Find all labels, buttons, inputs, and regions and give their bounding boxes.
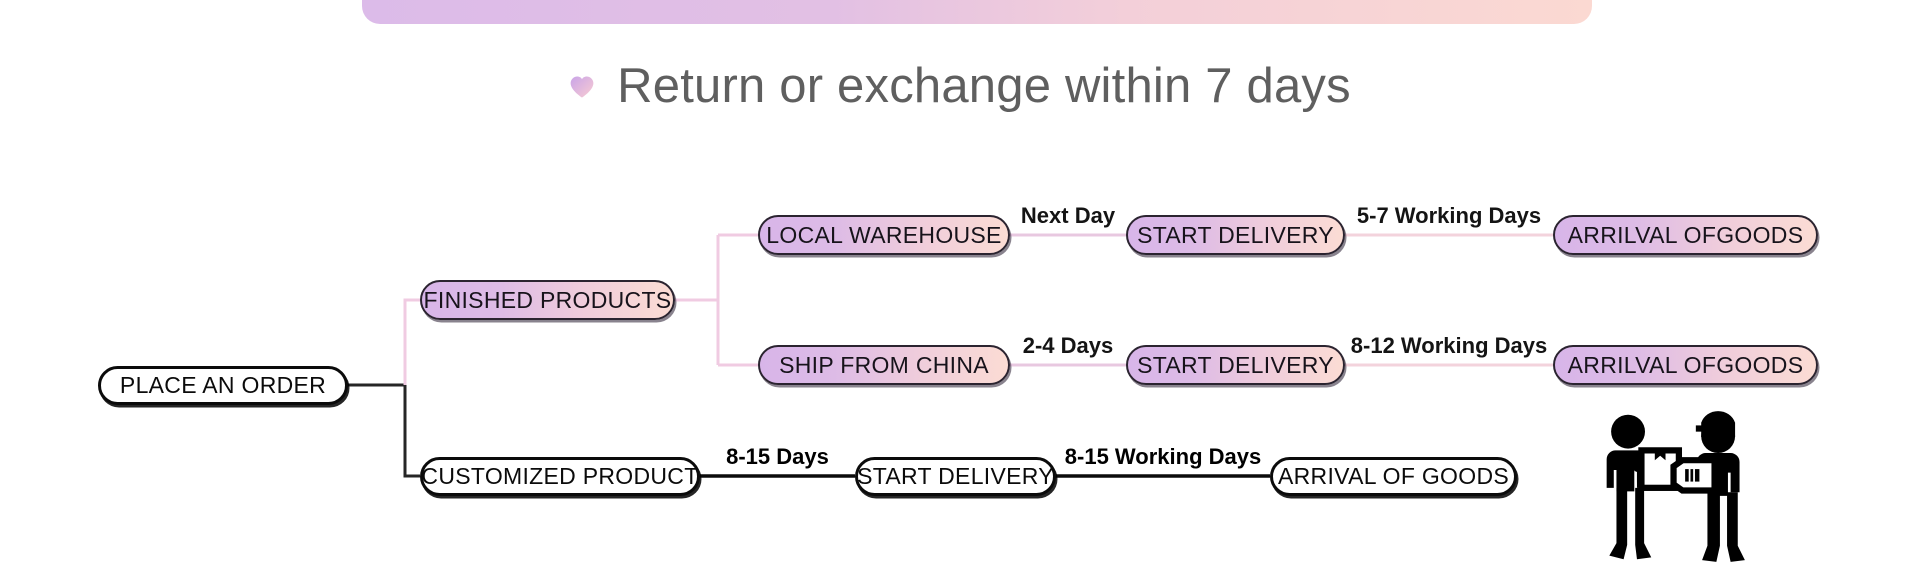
edge-duration-2-4-days: 2-4 Days: [1010, 335, 1126, 357]
flow-node-arrival-of-goods-china[interactable]: ARRILVAL OFGOODS: [1553, 345, 1818, 385]
flow-node-label: START DELIVERY: [1137, 224, 1334, 247]
shipping-flow-diagram: PLACE AN ORDER FINISHED PRODUCTS LOCAL W…: [0, 0, 1920, 581]
flow-node-start-delivery-local[interactable]: START DELIVERY: [1126, 215, 1345, 255]
flow-node-customized-product[interactable]: CUSTOMIZED PRODUCT: [420, 457, 700, 496]
flow-node-label: LOCAL WAREHOUSE: [766, 224, 1001, 247]
flow-node-finished-products[interactable]: FINISHED PRODUCTS: [420, 280, 675, 320]
edge-duration-label: 2-4 Days: [1023, 333, 1114, 358]
shipping-policy-graphic: Shipping Policy Return or exchange withi…: [0, 0, 1920, 581]
flow-node-label: ARRILVAL OFGOODS: [1568, 354, 1804, 377]
flow-node-label: START DELIVERY: [1137, 354, 1334, 377]
flow-node-start-delivery-china[interactable]: START DELIVERY: [1126, 345, 1345, 385]
flow-node-local-warehouse[interactable]: LOCAL WAREHOUSE: [758, 215, 1010, 255]
flow-node-label: START DELIVERY: [857, 465, 1054, 488]
flow-node-label: SHIP FROM CHINA: [779, 354, 989, 377]
edge-duration-label: Next Day: [1021, 203, 1115, 228]
edge-duration-8-15-working-days: 8-15 Working Days: [1056, 446, 1270, 468]
flow-node-label: PLACE AN ORDER: [120, 374, 326, 397]
flow-node-label: ARRILVAL OFGOODS: [1568, 224, 1804, 247]
edge-duration-8-15-days: 8-15 Days: [700, 446, 855, 468]
flow-node-label: CUSTOMIZED PRODUCT: [421, 465, 698, 488]
edge-duration-next-day: Next Day: [1010, 205, 1126, 227]
flow-node-start-delivery-custom[interactable]: START DELIVERY: [855, 457, 1056, 496]
edge-duration-label: 8-12 Working Days: [1351, 333, 1547, 358]
edge-duration-5-7-working-days: 5-7 Working Days: [1345, 205, 1553, 227]
edge-duration-label: 8-15 Working Days: [1065, 444, 1261, 469]
edge-duration-label: 8-15 Days: [726, 444, 829, 469]
flow-node-label: ARRIVAL OF GOODS: [1278, 465, 1509, 488]
flow-node-arrival-of-goods-custom[interactable]: ARRIVAL OF GOODS: [1270, 457, 1517, 496]
delivery-handoff-icon: [1588, 404, 1768, 569]
edge-duration-label: 5-7 Working Days: [1357, 203, 1541, 228]
flow-node-label: FINISHED PRODUCTS: [424, 289, 672, 312]
edge-duration-8-12-working-days: 8-12 Working Days: [1345, 335, 1553, 357]
flow-node-ship-from-china[interactable]: SHIP FROM CHINA: [758, 345, 1010, 385]
flow-node-arrival-of-goods-local[interactable]: ARRILVAL OFGOODS: [1553, 215, 1818, 255]
flow-node-place-an-order[interactable]: PLACE AN ORDER: [98, 366, 348, 405]
